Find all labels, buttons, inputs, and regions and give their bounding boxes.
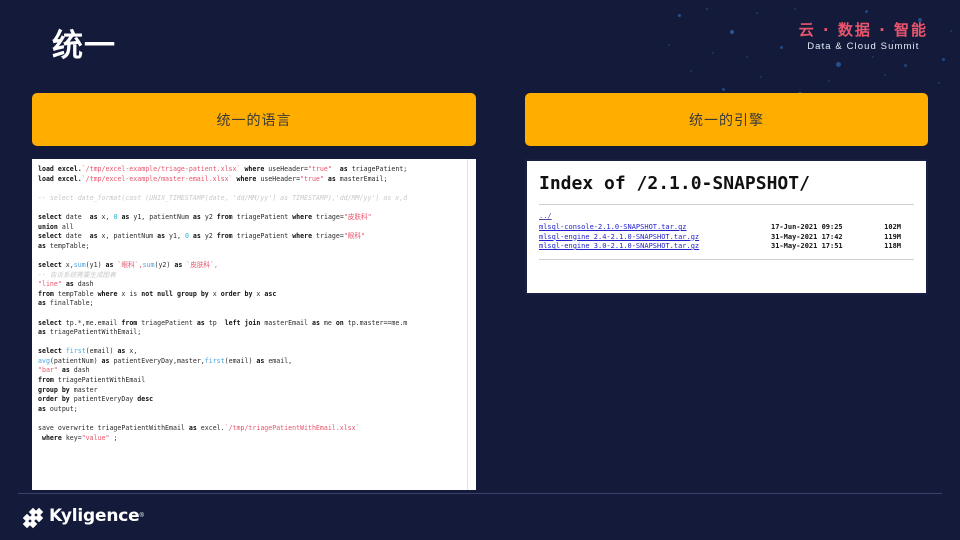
code-line: -- select date_format(cast (UNIX_TIMESTA… bbox=[38, 194, 476, 204]
registered-trademark-icon: ® bbox=[139, 513, 143, 519]
particle-dot bbox=[668, 44, 670, 46]
footer-divider bbox=[18, 493, 942, 494]
summit-logo: 云 · 数据 · 智能 Data & Cloud Summit bbox=[799, 20, 928, 54]
particle-dot bbox=[836, 62, 841, 67]
code-line bbox=[38, 309, 476, 319]
index-file-link[interactable]: mlsql-console-2.1.0-SNAPSHOT.tar.gz bbox=[539, 223, 771, 233]
code-line bbox=[38, 203, 476, 213]
code-line bbox=[38, 414, 476, 424]
code-line: "bar" as dash bbox=[38, 366, 476, 376]
code-line: as triagePatientWithEmail; bbox=[38, 328, 476, 338]
code-screenshot-panel: load excel.`/tmp/excel-example/triage-pa… bbox=[32, 159, 476, 490]
code-line: as output; bbox=[38, 405, 476, 415]
index-file-date: 17-Jun-2021 09:25 bbox=[771, 223, 861, 233]
kyligence-logo: Kyligence ® bbox=[22, 505, 144, 527]
banner-unified-language-label: 统一的语言 bbox=[217, 110, 292, 130]
page-title: 统一 bbox=[52, 26, 116, 66]
right-column: 统一的引擎 bbox=[525, 93, 928, 146]
index-file-row: mlsql-engine_3.0-2.1.0-SNAPSHOT.tar.gz31… bbox=[539, 242, 914, 252]
code-line: select first(email) as x, bbox=[38, 347, 476, 357]
particle-dot bbox=[746, 56, 748, 58]
particle-dot bbox=[730, 30, 734, 34]
code-gutter-divider bbox=[467, 159, 468, 490]
particle-dot bbox=[884, 74, 886, 76]
kyligence-wordmark: Kyligence bbox=[49, 506, 139, 526]
code-line bbox=[38, 338, 476, 348]
particle-dot bbox=[706, 8, 708, 10]
kyligence-diamond-icon bbox=[22, 505, 44, 527]
particle-dot bbox=[760, 76, 762, 78]
index-title: Index of /2.1.0-SNAPSHOT/ bbox=[539, 171, 914, 197]
index-file-row: mlsql-engine_2.4-2.1.0-SNAPSHOT.tar.gz31… bbox=[539, 233, 914, 243]
code-line: select x,sum(y1) as `眼科`,sum(y2) as `皮肤科… bbox=[38, 261, 476, 271]
particle-dot bbox=[872, 56, 874, 58]
code-line: load excel.`/tmp/excel-example/triage-pa… bbox=[38, 165, 476, 175]
directory-index-panel: Index of /2.1.0-SNAPSHOT/ ../ mlsql-cons… bbox=[525, 159, 928, 295]
particle-dot bbox=[712, 52, 714, 54]
particle-dot bbox=[865, 10, 868, 13]
code-line bbox=[38, 184, 476, 194]
index-file-size: 118M bbox=[861, 242, 901, 252]
code-line bbox=[38, 251, 476, 261]
code-line: as tempTable; bbox=[38, 242, 476, 252]
particle-dot bbox=[678, 14, 681, 17]
index-file-link[interactable]: mlsql-engine_2.4-2.1.0-SNAPSHOT.tar.gz bbox=[539, 233, 771, 243]
particle-dot bbox=[828, 80, 830, 82]
index-file-list: mlsql-console-2.1.0-SNAPSHOT.tar.gz17-Ju… bbox=[539, 223, 914, 252]
particle-dot bbox=[690, 70, 692, 72]
banner-unified-engine: 统一的引擎 bbox=[525, 93, 928, 146]
index-file-date: 31-May-2021 17:51 bbox=[771, 242, 861, 252]
code-line: select tp.*,me.email from triagePatient … bbox=[38, 319, 476, 329]
banner-unified-language: 统一的语言 bbox=[32, 93, 476, 146]
code-line: where key="value" ; bbox=[38, 434, 476, 444]
code-line: union all bbox=[38, 223, 476, 233]
particle-dot bbox=[722, 88, 725, 91]
code-line: load excel.`/tmp/excel-example/master-em… bbox=[38, 175, 476, 185]
particle-dot bbox=[756, 12, 758, 14]
left-column: 统一的语言 bbox=[32, 93, 476, 146]
index-file-size: 102M bbox=[861, 223, 901, 233]
code-line: from triagePatientWithEmail bbox=[38, 376, 476, 386]
index-file-size: 119M bbox=[861, 233, 901, 243]
banner-unified-engine-label: 统一的引擎 bbox=[689, 110, 764, 130]
code-line: from tempTable where x is not null group… bbox=[38, 290, 476, 300]
index-file-link[interactable]: mlsql-engine_3.0-2.1.0-SNAPSHOT.tar.gz bbox=[539, 242, 771, 252]
summit-logo-cn: 云 · 数据 · 智能 bbox=[799, 20, 928, 40]
particle-dot bbox=[938, 82, 940, 84]
code-line: select date as x, patientNum as y1, 0 as… bbox=[38, 232, 476, 242]
particle-dot bbox=[942, 58, 945, 61]
particle-dot bbox=[794, 8, 796, 10]
code-line: avg(patientNum) as patientEveryDay,maste… bbox=[38, 357, 476, 367]
code-line: group by master bbox=[38, 386, 476, 396]
code-line: order by patientEveryDay desc bbox=[38, 395, 476, 405]
index-file-row: mlsql-console-2.1.0-SNAPSHOT.tar.gz17-Ju… bbox=[539, 223, 914, 233]
code-line: select date as x, 0 as y1, patientNum as… bbox=[38, 213, 476, 223]
summit-logo-en: Data & Cloud Summit bbox=[799, 40, 928, 54]
index-divider-bottom bbox=[539, 259, 914, 260]
code-line: -- 告诉系统需要生成图表 bbox=[38, 271, 476, 281]
code-block: load excel.`/tmp/excel-example/triage-pa… bbox=[38, 165, 476, 443]
particle-dot bbox=[904, 64, 907, 67]
particle-dot bbox=[780, 46, 783, 49]
index-file-date: 31-May-2021 17:42 bbox=[771, 233, 861, 243]
code-line: as finalTable; bbox=[38, 299, 476, 309]
index-divider-top bbox=[539, 204, 914, 205]
code-line: "line" as dash bbox=[38, 280, 476, 290]
parent-directory-link[interactable]: ../ bbox=[539, 212, 914, 221]
code-line: save overwrite triagePatientWithEmail as… bbox=[38, 424, 476, 434]
particle-dot bbox=[950, 30, 952, 32]
